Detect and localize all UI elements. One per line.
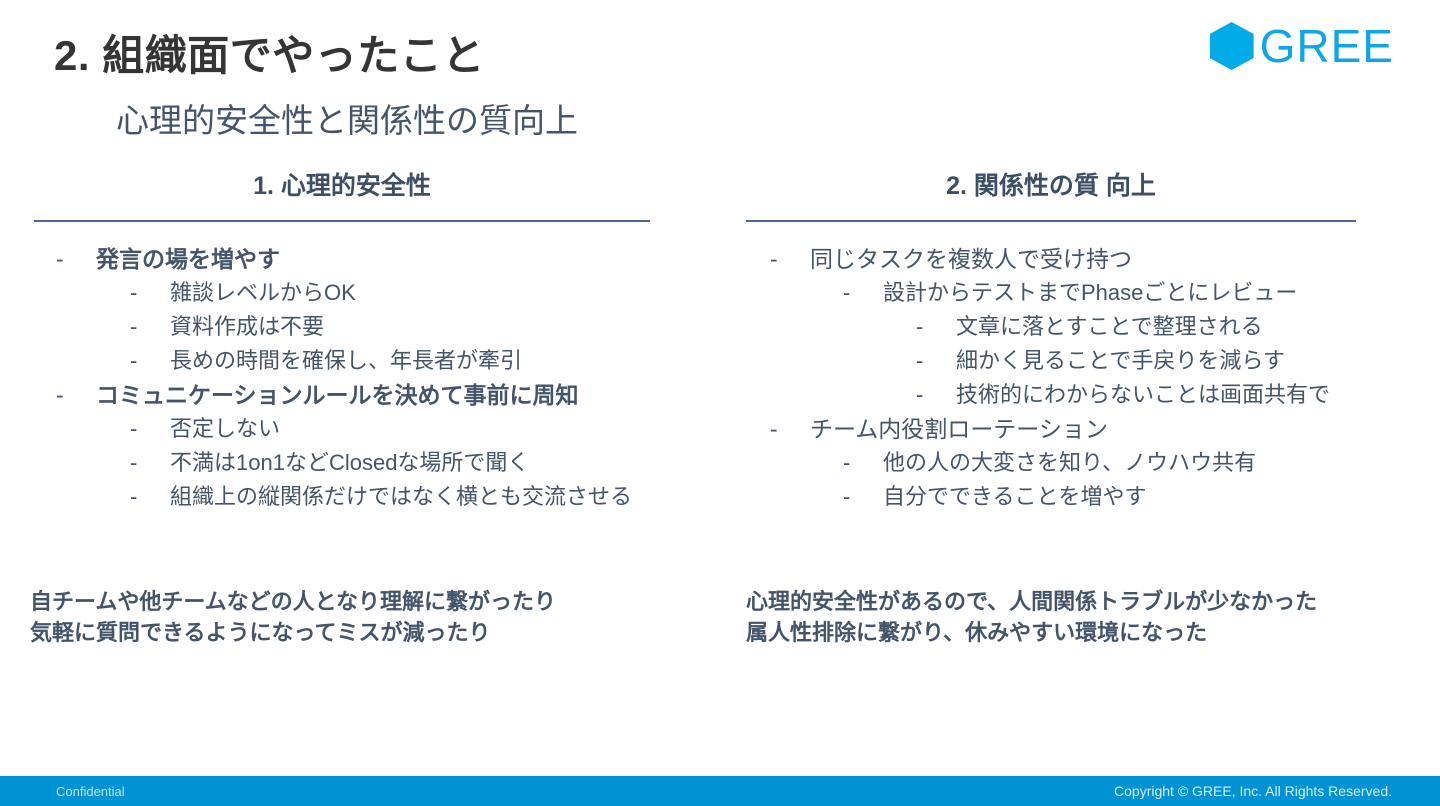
list-item-label: 文章に落とすことで整理される xyxy=(956,310,1263,344)
column-heading: 1. 心理的安全性 xyxy=(34,166,650,202)
gree-logo: GREE xyxy=(1210,22,1394,70)
list-item-label: コミュニケーションルールを決めて事前に周知 xyxy=(96,378,579,412)
bullet-dash-icon: - xyxy=(130,344,170,378)
list-item: -文章に落とすことで整理される xyxy=(916,310,1356,344)
column-heading: 2. 関係性の質 向上 xyxy=(746,166,1356,202)
list-item-label: 他の人の大変さを知り、ノウハウ共有 xyxy=(883,446,1256,480)
bullet-list-right: -同じタスクを複数人で受け持つ-設計からテストまでPhaseごとにレビュー-文章… xyxy=(746,242,1356,514)
heading-divider xyxy=(746,220,1356,222)
page-subtitle: 心理的安全性と関係性の質向上 xyxy=(116,94,578,142)
list-item: -チーム内役割ローテーション xyxy=(770,412,1356,446)
list-item-label: 雑談レベルからOK xyxy=(170,276,356,310)
bullet-dash-icon: - xyxy=(843,276,883,310)
bullet-list-left: -発言の場を増やす-雑談レベルからOK-資料作成は不要-長めの時間を確保し、年長… xyxy=(34,242,650,514)
list-item: -自分でできることを増やす xyxy=(843,480,1356,514)
heading-divider xyxy=(34,220,650,222)
list-item-label: 同じタスクを複数人で受け持つ xyxy=(810,242,1132,276)
list-item: -設計からテストまでPhaseごとにレビュー xyxy=(843,276,1356,310)
list-item: -他の人の大変さを知り、ノウハウ共有 xyxy=(843,446,1356,480)
list-item-label: 自分でできることを増やす xyxy=(883,480,1147,514)
footer-bar: Confidential Copyright © GREE, Inc. All … xyxy=(0,776,1440,806)
list-item: -同じタスクを複数人で受け持つ xyxy=(770,242,1356,276)
list-item: -組織上の縦関係だけではなく横とも交流させる xyxy=(130,480,650,514)
bullet-dash-icon: - xyxy=(916,310,956,344)
footer-copyright: Copyright © GREE, Inc. All Rights Reserv… xyxy=(1114,783,1392,799)
logo-wordmark: GREE xyxy=(1260,23,1394,69)
footer-confidential: Confidential xyxy=(56,784,125,799)
bullet-dash-icon: - xyxy=(843,446,883,480)
conclusion-right: 心理的安全性があるので、人間関係トラブルが少なかった 属人性排除に繋がり、休みや… xyxy=(746,586,1317,648)
bullet-dash-icon: - xyxy=(56,242,96,276)
bullet-dash-icon: - xyxy=(843,480,883,514)
list-item-label: 長めの時間を確保し、年長者が牽引 xyxy=(170,344,522,378)
list-item-label: 設計からテストまでPhaseごとにレビュー xyxy=(883,276,1297,310)
list-item: -資料作成は不要 xyxy=(130,310,650,344)
list-item-label: 不満は1on1などClosedな場所で聞く xyxy=(170,446,529,480)
list-item-label: 組織上の縦関係だけではなく横とも交流させる xyxy=(170,480,632,514)
bullet-dash-icon: - xyxy=(770,412,810,446)
bullet-dash-icon: - xyxy=(130,446,170,480)
list-item: -長めの時間を確保し、年長者が牽引 xyxy=(130,344,650,378)
page-title: 2. 組織面でやったこと xyxy=(54,22,485,83)
list-item-label: 細かく見ることで手戻りを減らす xyxy=(956,344,1285,378)
list-item: -雑談レベルからOK xyxy=(130,276,650,310)
list-item: -発言の場を増やす xyxy=(56,242,650,276)
list-item: -コミュニケーションルールを決めて事前に周知 xyxy=(56,378,650,412)
bullet-dash-icon: - xyxy=(56,378,96,412)
list-item: -細かく見ることで手戻りを減らす xyxy=(916,344,1356,378)
bullet-dash-icon: - xyxy=(130,480,170,514)
conclusion-left: 自チームや他チームなどの人となり理解に繋がったり 気軽に質問できるようになってミ… xyxy=(30,586,556,648)
list-item-label: チーム内役割ローテーション xyxy=(810,412,1108,446)
list-item: -技術的にわからないことは画面共有で xyxy=(916,378,1356,412)
bullet-dash-icon: - xyxy=(130,412,170,446)
bullet-dash-icon: - xyxy=(916,378,956,412)
bullet-dash-icon: - xyxy=(130,276,170,310)
slide: 2. 組織面でやったこと 心理的安全性と関係性の質向上 GREE 1. 心理的安… xyxy=(0,0,1440,806)
bullet-dash-icon: - xyxy=(130,310,170,344)
list-item: -不満は1on1などClosedな場所で聞く xyxy=(130,446,650,480)
hexagon-icon xyxy=(1210,22,1254,70)
list-item-label: 資料作成は不要 xyxy=(170,310,324,344)
list-item: -否定しない xyxy=(130,412,650,446)
list-item-label: 発言の場を増やす xyxy=(96,242,280,276)
bullet-dash-icon: - xyxy=(770,242,810,276)
column-right: 2. 関係性の質 向上 -同じタスクを複数人で受け持つ-設計からテストまでPha… xyxy=(746,166,1356,514)
list-item-label: 否定しない xyxy=(170,412,280,446)
bullet-dash-icon: - xyxy=(916,344,956,378)
list-item-label: 技術的にわからないことは画面共有で xyxy=(956,378,1330,412)
column-left: 1. 心理的安全性 -発言の場を増やす-雑談レベルからOK-資料作成は不要-長め… xyxy=(34,166,650,514)
